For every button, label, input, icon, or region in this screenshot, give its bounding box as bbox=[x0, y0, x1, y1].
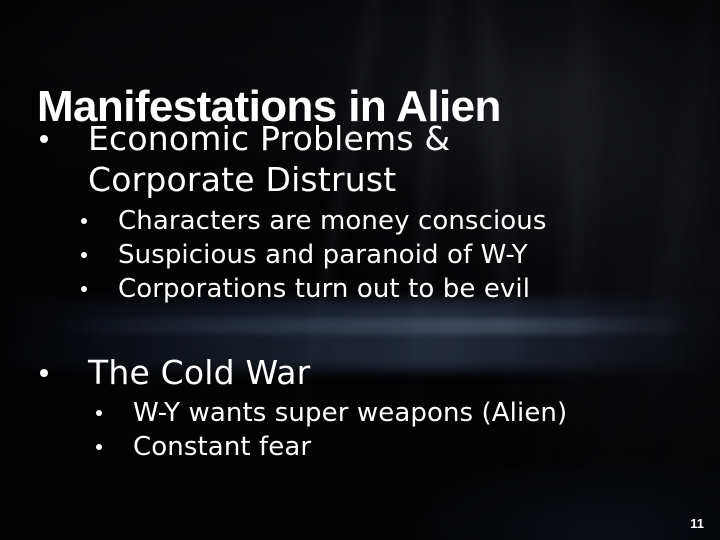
bullet-dot-icon bbox=[96, 444, 102, 450]
bullet-item-level2: Corporations turn out to be evil bbox=[0, 272, 720, 306]
bullet-group-2: The Cold War W-Y wants super weapons (Al… bbox=[0, 352, 720, 464]
presentation-slide: Manifestations in Alien Economic Problem… bbox=[0, 0, 720, 540]
bullet-item-level1-label: The Cold War bbox=[88, 352, 518, 393]
bullet-item-level1-label: Economic Problems & Corporate Distrust bbox=[88, 118, 518, 200]
slide-content: Manifestations in Alien Economic Problem… bbox=[0, 0, 720, 540]
bullet-group-1: Economic Problems & Corporate Distrust C… bbox=[0, 118, 720, 306]
bullet-dot-icon bbox=[81, 252, 87, 258]
slide-body: Economic Problems & Corporate Distrust C… bbox=[0, 118, 720, 464]
bullet-item-level2-label: Constant fear bbox=[133, 432, 311, 462]
bullet-dot-icon bbox=[96, 410, 102, 416]
bullet-dot-icon bbox=[40, 369, 48, 377]
bullet-item-level2-label: Corporations turn out to be evil bbox=[118, 274, 530, 304]
bullet-item-level2-label: Suspicious and paranoid of W-Y bbox=[118, 240, 528, 270]
bullet-item-level2-label: Characters are money conscious bbox=[118, 206, 547, 236]
bullet-dot-icon bbox=[81, 286, 87, 292]
slide-page-number: 11 bbox=[690, 516, 704, 531]
bullet-item-level2: W-Y wants super weapons (Alien) bbox=[0, 396, 720, 430]
bullet-dot-icon bbox=[40, 135, 48, 143]
bullet-item-level1: The Cold War bbox=[0, 352, 720, 393]
sub-bullet-list-1: Characters are money conscious Suspiciou… bbox=[0, 204, 720, 306]
bullet-item-level2: Suspicious and paranoid of W-Y bbox=[0, 238, 720, 272]
sub-bullet-list-2: W-Y wants super weapons (Alien) Constant… bbox=[0, 396, 720, 464]
bullet-dot-icon bbox=[81, 218, 87, 224]
bullet-item-level2: Characters are money conscious bbox=[0, 204, 720, 238]
bullet-item-level2-label: W-Y wants super weapons (Alien) bbox=[133, 398, 567, 428]
bullet-item-level1: Economic Problems & Corporate Distrust bbox=[0, 118, 720, 200]
bullet-item-level2: Constant fear bbox=[0, 430, 720, 464]
